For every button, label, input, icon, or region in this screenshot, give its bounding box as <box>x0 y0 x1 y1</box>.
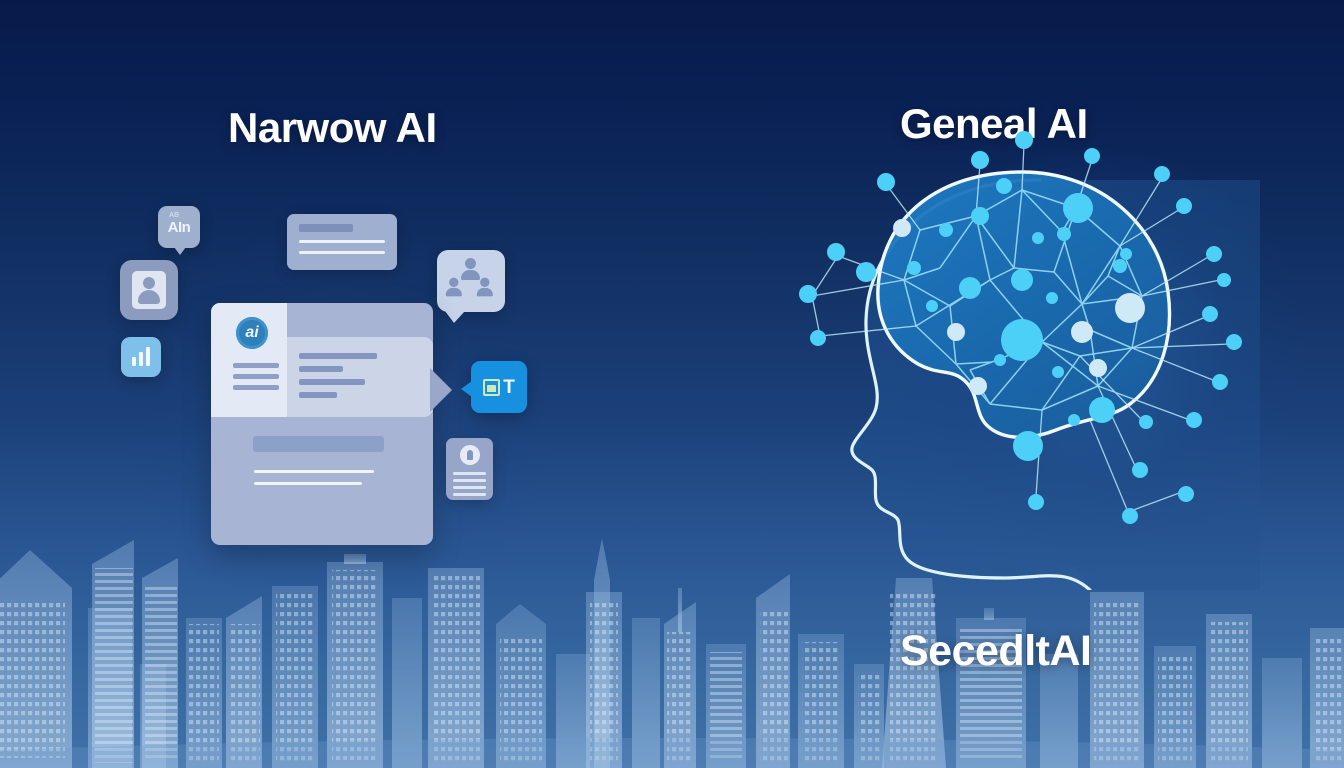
lightbulb-icon[interactable] <box>446 438 493 500</box>
idea-line-1 <box>453 472 486 475</box>
poster-canvas: Narwow AI Geneal AI SecedltAI AB AIn <box>0 0 1344 768</box>
image-glyph-icon <box>483 379 500 396</box>
avatar <box>132 271 166 309</box>
image-translate-icon[interactable]: T <box>471 361 527 413</box>
idea-line-3 <box>453 486 486 489</box>
card-header-bar <box>299 224 353 232</box>
doc-highlight-bar <box>253 436 384 452</box>
doc-footer-line-2 <box>254 482 362 485</box>
doc-right-line-3 <box>299 379 365 385</box>
translate-icon[interactable]: AB AIn <box>158 206 200 248</box>
person-left <box>449 278 462 297</box>
doc-footer-line-1 <box>254 470 374 473</box>
ocr-label: T <box>503 378 515 397</box>
narrow-ai-illustration: AB AIn <box>0 0 660 768</box>
doc-right-line-1 <box>299 353 377 359</box>
document-card[interactable]: ai <box>211 303 433 545</box>
bar-3 <box>146 347 151 366</box>
card-line-2 <box>299 251 385 254</box>
general-ai-illustration <box>790 120 1260 590</box>
bar-1 <box>132 357 137 366</box>
lightbulb-glyph <box>467 450 473 460</box>
person-top <box>465 258 480 280</box>
user-avatar-icon[interactable] <box>120 260 178 320</box>
bar-2 <box>139 352 144 366</box>
text-card-icon[interactable] <box>287 214 397 270</box>
lightbulb-badge <box>460 445 480 465</box>
ai-logo-icon: ai <box>236 317 268 349</box>
translate-superscript-label: AB <box>169 212 179 219</box>
idea-line-4 <box>453 493 486 496</box>
person-right <box>480 278 493 297</box>
bar-chart-bars <box>132 348 151 366</box>
doc-right-line-4 <box>299 392 337 398</box>
people-group-icon[interactable] <box>437 250 505 312</box>
avatar-head-shape <box>143 277 155 289</box>
idea-line-2 <box>453 479 486 482</box>
document-right-pane <box>287 337 433 417</box>
bar-chart-icon[interactable] <box>121 337 161 377</box>
doc-right-line-2 <box>299 366 343 372</box>
flow-arrow-icon <box>430 368 452 412</box>
card-line-1 <box>299 240 385 243</box>
page-title-footer: SecedltAI <box>900 627 1091 676</box>
avatar-body-shape <box>138 290 160 304</box>
doc-left-line-1 <box>233 363 279 368</box>
doc-left-line-3 <box>233 385 279 390</box>
translate-main-label: AIn <box>168 220 191 235</box>
doc-left-line-2 <box>233 374 279 379</box>
